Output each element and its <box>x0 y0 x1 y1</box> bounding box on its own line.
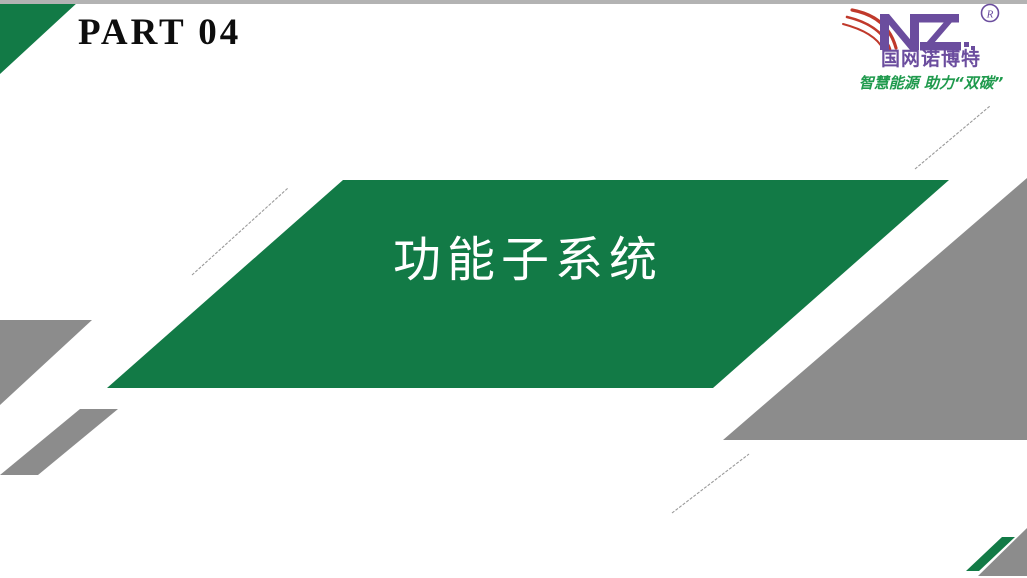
logo-letter-n <box>880 14 919 50</box>
logo-accent-square <box>964 42 969 47</box>
slide-canvas: PART 04 功能子系统 <box>0 0 1027 578</box>
hairline-upper-right <box>915 106 990 169</box>
page-title: 功能子系统 <box>343 232 713 290</box>
gray-triangle-left <box>0 320 92 405</box>
logo-letter-z <box>918 14 961 51</box>
gray-triangle-bottom-right <box>978 528 1027 576</box>
svg-text:R: R <box>986 9 994 21</box>
gray-parallelogram-left <box>0 409 118 475</box>
logo-company-name: 国网诺博特 <box>838 50 1024 69</box>
green-triangle-top-left <box>0 2 78 74</box>
logo-tagline: 智慧能源 助力“双碳” <box>838 76 1024 91</box>
company-logo: R 国网诺博特 智慧能源 助力“双碳” <box>838 2 1024 102</box>
page-section-label: PART 04 <box>78 14 241 51</box>
hairline-lower-center <box>672 454 749 513</box>
logo-monogram-icon: R <box>838 2 1024 52</box>
